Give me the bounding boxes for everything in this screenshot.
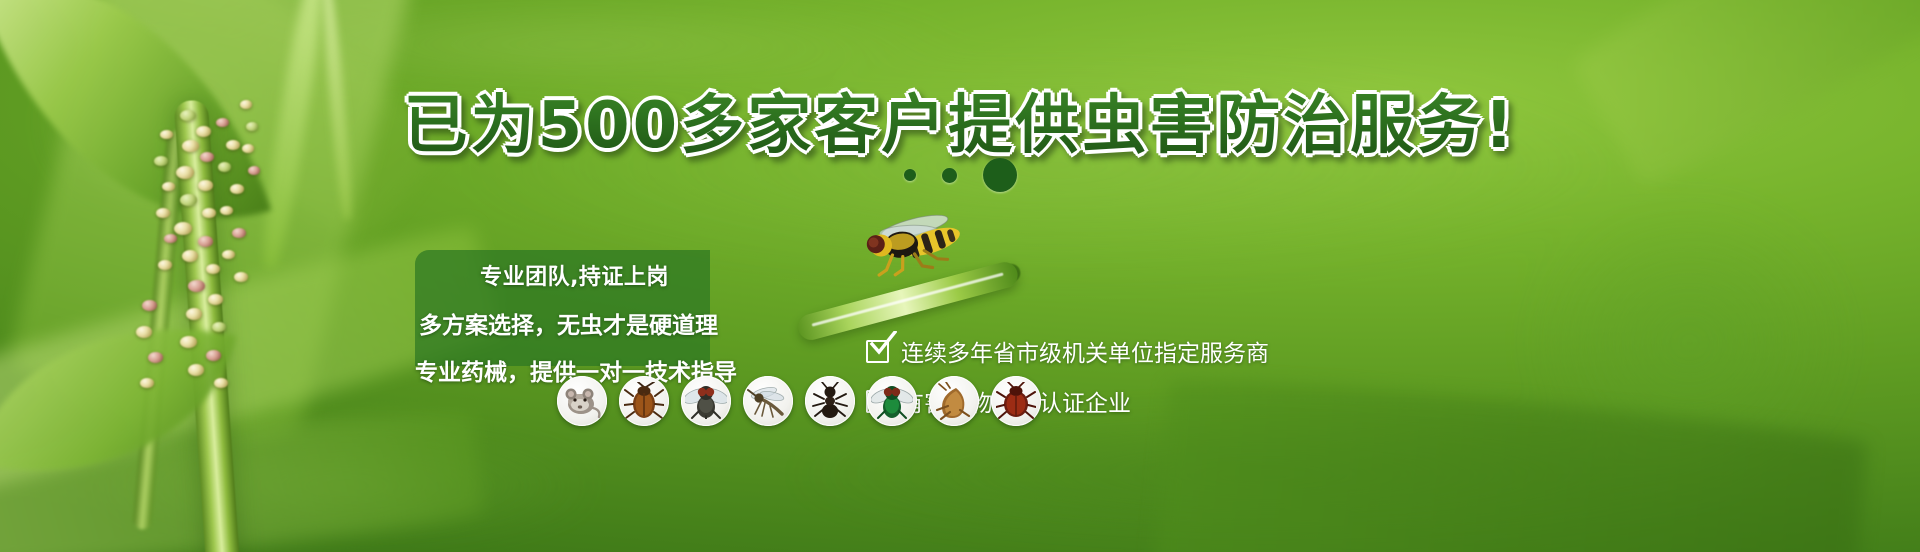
aphid <box>148 352 163 363</box>
pest-control-hero-banner: 已为500多家客户提供虫害防治服务! 专业团队,持证上岗 多方案选择，无虫才是硬… <box>0 0 1920 552</box>
flea-icon[interactable] <box>929 376 979 426</box>
checkbox-checked-icon <box>866 340 889 363</box>
aphid <box>220 206 233 215</box>
aphid <box>208 294 223 305</box>
aphid <box>142 300 157 311</box>
aphid <box>156 208 170 218</box>
ornament-dots <box>0 158 1920 192</box>
page-title: 已为500多家客户提供虫害防治服务! <box>0 74 1920 166</box>
ornament-dot-medium <box>942 168 957 183</box>
aphid <box>158 260 172 270</box>
ornament-dot-large <box>983 158 1017 192</box>
blowfly-icon[interactable] <box>867 376 917 426</box>
aphid <box>232 228 246 238</box>
aphid <box>234 272 248 282</box>
credential-row: 连续多年省市级机关单位指定服务商 <box>866 330 1269 372</box>
aphid <box>206 350 221 361</box>
cockroach-icon[interactable] <box>619 376 669 426</box>
aphid <box>188 364 204 376</box>
aphid <box>202 208 216 218</box>
aphid <box>206 264 220 274</box>
credential-text: 连续多年省市级机关单位指定服务商 <box>901 334 1269 368</box>
bedbug-icon[interactable] <box>991 376 1041 426</box>
aphid <box>164 234 177 243</box>
aphid <box>174 222 192 235</box>
aphid <box>212 322 226 332</box>
aphid <box>136 326 152 338</box>
mosquito-icon[interactable] <box>743 376 793 426</box>
aphid <box>140 378 154 388</box>
aphid <box>188 280 205 292</box>
claim-line-2: 多方案选择，无虫才是硬道理 <box>415 306 696 340</box>
aphid <box>182 250 198 262</box>
aphid <box>198 236 213 247</box>
aphid <box>180 194 197 206</box>
housefly-icon[interactable] <box>681 376 731 426</box>
aphid <box>180 336 197 348</box>
aphid <box>186 308 202 320</box>
ant-icon[interactable] <box>805 376 855 426</box>
pest-icon-strip <box>557 376 1041 426</box>
ornament-dot-small <box>904 169 916 181</box>
claims-panel: 专业团队,持证上岗 多方案选择，无虫才是硬道理 专业药械，提供一对一技术指导 <box>415 250 710 366</box>
aphid <box>222 250 235 259</box>
claim-line-1: 专业团队,持证上岗 <box>415 259 696 291</box>
aphid <box>214 378 228 388</box>
rodent-mouse-icon[interactable] <box>557 376 607 426</box>
